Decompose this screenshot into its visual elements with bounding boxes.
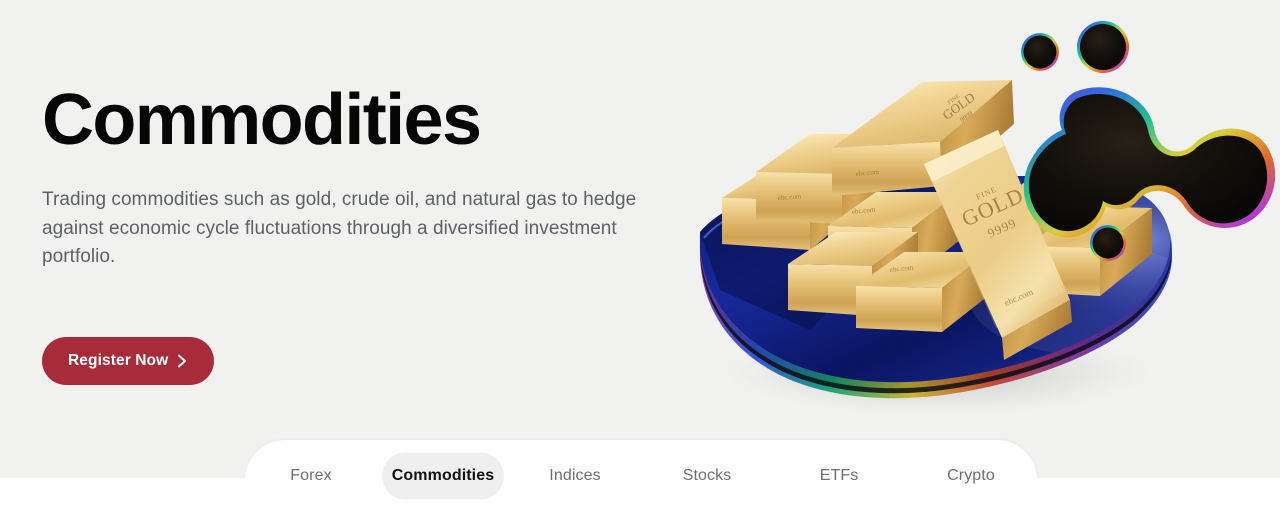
page-title: Commodities xyxy=(42,76,662,164)
tab-crypto[interactable]: Crypto xyxy=(905,440,1037,505)
tab-label: Commodities xyxy=(392,467,494,485)
market-tabs: ForexCommoditiesIndicesStocksETFsCrypto xyxy=(245,440,1037,505)
market-tabs-card: ForexCommoditiesIndicesStocksETFsCrypto xyxy=(245,440,1037,505)
chevron-right-icon xyxy=(177,354,188,368)
oil-blob-small-top xyxy=(1021,33,1059,71)
svg-text:ebc.com: ebc.com xyxy=(778,192,803,202)
tab-etfs[interactable]: ETFs xyxy=(773,440,905,505)
hero-copy: Commodities Trading commodities such as … xyxy=(42,76,662,272)
tab-label: Forex xyxy=(290,467,331,485)
tab-indices[interactable]: Indices xyxy=(509,440,641,505)
oil-blob-top-bubble xyxy=(1077,21,1129,73)
hero-description: Trading commodities such as gold, crude … xyxy=(42,186,642,272)
hero-artwork: ebc.com FINE GOLD 9999 ebc.com xyxy=(660,0,1280,430)
tab-label: Stocks xyxy=(683,467,732,485)
tab-forex[interactable]: Forex xyxy=(245,440,377,505)
tab-label: ETFs xyxy=(820,467,859,485)
tab-label: Indices xyxy=(549,467,600,485)
tab-stocks[interactable]: Stocks xyxy=(641,440,773,505)
register-now-button[interactable]: Register Now xyxy=(42,337,214,385)
oil-blob-small-bottom xyxy=(1090,225,1126,261)
page-root: ebc.com FINE GOLD 9999 ebc.com xyxy=(0,0,1280,505)
tab-commodities[interactable]: Commodities xyxy=(377,440,509,505)
register-now-label: Register Now xyxy=(68,352,168,370)
tab-label: Crypto xyxy=(947,467,995,485)
